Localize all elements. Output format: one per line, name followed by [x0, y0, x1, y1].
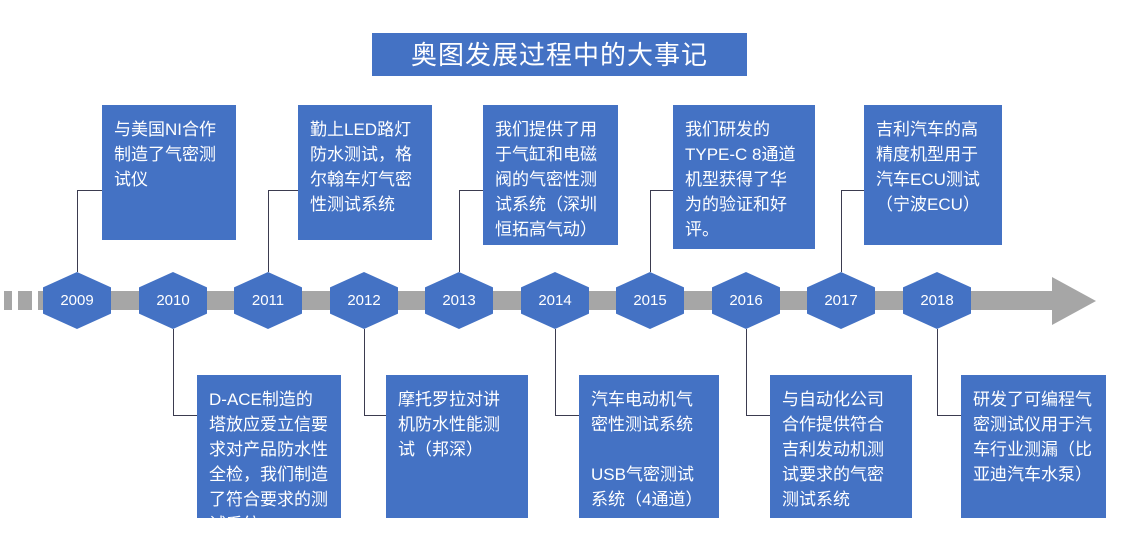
event-card-2009[interactable]: 与美国NI合作制造了气密测试仪	[102, 105, 236, 240]
connector-2014-vertical	[555, 329, 556, 415]
timeline-node-2009[interactable]: 2009	[43, 272, 111, 329]
timeline-node-2015[interactable]: 2015	[616, 272, 684, 329]
timeline-node-label: 2015	[633, 292, 666, 309]
event-card-text-secondary: USB气密测试系统（4通道）	[591, 462, 707, 512]
timeline-node-label: 2018	[920, 292, 953, 309]
bar-dash-2	[18, 291, 32, 310]
connector-2014-horizontal	[555, 415, 579, 416]
timeline-node-label: 2011	[252, 292, 284, 309]
event-card-text: 研发了可编程气密测试仪用于汽车行业测漏（比亚迪汽车水泵）	[973, 387, 1094, 487]
event-card-2015[interactable]: 我们研发的TYPE-C 8通道机型获得了华为的验证和好评。	[673, 105, 815, 249]
connector-2011-horizontal	[268, 190, 298, 191]
connector-2012-horizontal	[364, 415, 386, 416]
bar-dash-4	[995, 291, 1025, 310]
connector-2009-horizontal	[77, 190, 102, 191]
timeline-node-2018[interactable]: 2018	[903, 272, 971, 329]
event-card-2018[interactable]: 研发了可编程气密测试仪用于汽车行业测漏（比亚迪汽车水泵）	[961, 375, 1106, 518]
connector-2015-horizontal	[650, 190, 673, 191]
connector-2018-horizontal	[937, 415, 961, 416]
timeline-node-2010[interactable]: 2010	[139, 272, 207, 329]
event-card-2014[interactable]: 汽车电动机气密性测试系统 USB气密测试系统（4通道）	[579, 375, 719, 518]
connector-2012-vertical	[364, 329, 365, 415]
bar-dash-5	[1031, 291, 1045, 310]
connector-2010-vertical	[173, 329, 174, 415]
connector-2015-vertical	[650, 190, 651, 272]
right-arrow-icon	[1052, 277, 1096, 325]
timeline-node-2017[interactable]: 2017	[807, 272, 875, 329]
timeline-node-2011[interactable]: 2011	[234, 272, 302, 329]
event-card-text: D-ACE制造的塔放应爱立信要求对产品防水性全检，我们制造了符合要求的测试系统。	[209, 387, 329, 518]
timeline-node-label: 2014	[538, 292, 571, 309]
event-card-text: 汽车电动机气密性测试系统	[591, 387, 707, 437]
page-title: 奥图发展过程中的大事记	[372, 33, 747, 76]
connector-2013-vertical	[459, 190, 460, 272]
connector-2010-horizontal	[173, 415, 197, 416]
connector-2017-horizontal	[841, 190, 864, 191]
event-card-2010[interactable]: D-ACE制造的塔放应爱立信要求对产品防水性全检，我们制造了符合要求的测试系统。	[197, 375, 341, 518]
event-card-text: 我们提供了用于气缸和电磁阀的气密性测试系统（深圳恒拓高气动）	[495, 117, 606, 242]
event-card-text: 摩托罗拉对讲机防水性能测试（邦深）	[398, 387, 516, 462]
timeline-node-label: 2009	[60, 292, 93, 309]
event-card-2011[interactable]: 勤上LED路灯防水测试，格尔翰车灯气密性测试系统	[298, 105, 432, 240]
connector-2011-vertical	[268, 190, 269, 272]
event-card-text: 勤上LED路灯防水测试，格尔翰车灯气密性测试系统	[310, 117, 420, 217]
connector-2017-vertical	[841, 190, 842, 272]
timeline-node-2016[interactable]: 2016	[712, 272, 780, 329]
timeline-node-2014[interactable]: 2014	[521, 272, 589, 329]
event-card-text: 与美国NI合作制造了气密测试仪	[114, 117, 224, 192]
event-card-2017[interactable]: 吉利汽车的高精度机型用于汽车ECU测试（宁波ECU）	[864, 105, 1002, 245]
event-card-text: 与自动化公司合作提供符合吉利发动机测试要求的气密测试系统	[782, 387, 900, 512]
bar-dash-1	[4, 291, 12, 310]
connector-2009-vertical	[77, 190, 78, 272]
timeline-node-2013[interactable]: 2013	[425, 272, 493, 329]
connector-2018-vertical	[937, 329, 938, 415]
timeline-node-label: 2010	[156, 292, 189, 309]
timeline-node-2012[interactable]: 2012	[330, 272, 398, 329]
timeline-infographic: 奥图发展过程中的大事记 2009 2010 2011 2012 2013 201…	[0, 0, 1122, 548]
connector-2016-vertical	[746, 329, 747, 415]
timeline-node-label: 2013	[442, 292, 475, 309]
connector-2016-horizontal	[746, 415, 770, 416]
connector-2013-horizontal	[459, 190, 483, 191]
event-card-2016[interactable]: 与自动化公司合作提供符合吉利发动机测试要求的气密测试系统	[770, 375, 912, 518]
event-card-2012[interactable]: 摩托罗拉对讲机防水性能测试（邦深）	[386, 375, 528, 518]
event-card-2013[interactable]: 我们提供了用于气缸和电磁阀的气密性测试系统（深圳恒拓高气动）	[483, 105, 618, 245]
timeline-node-label: 2016	[729, 292, 762, 309]
timeline-node-label: 2017	[824, 292, 857, 309]
event-card-text: 吉利汽车的高精度机型用于汽车ECU测试（宁波ECU）	[876, 117, 990, 217]
event-card-text: 我们研发的TYPE-C 8通道机型获得了华为的验证和好评。	[685, 117, 803, 242]
timeline-node-label: 2012	[347, 292, 380, 309]
